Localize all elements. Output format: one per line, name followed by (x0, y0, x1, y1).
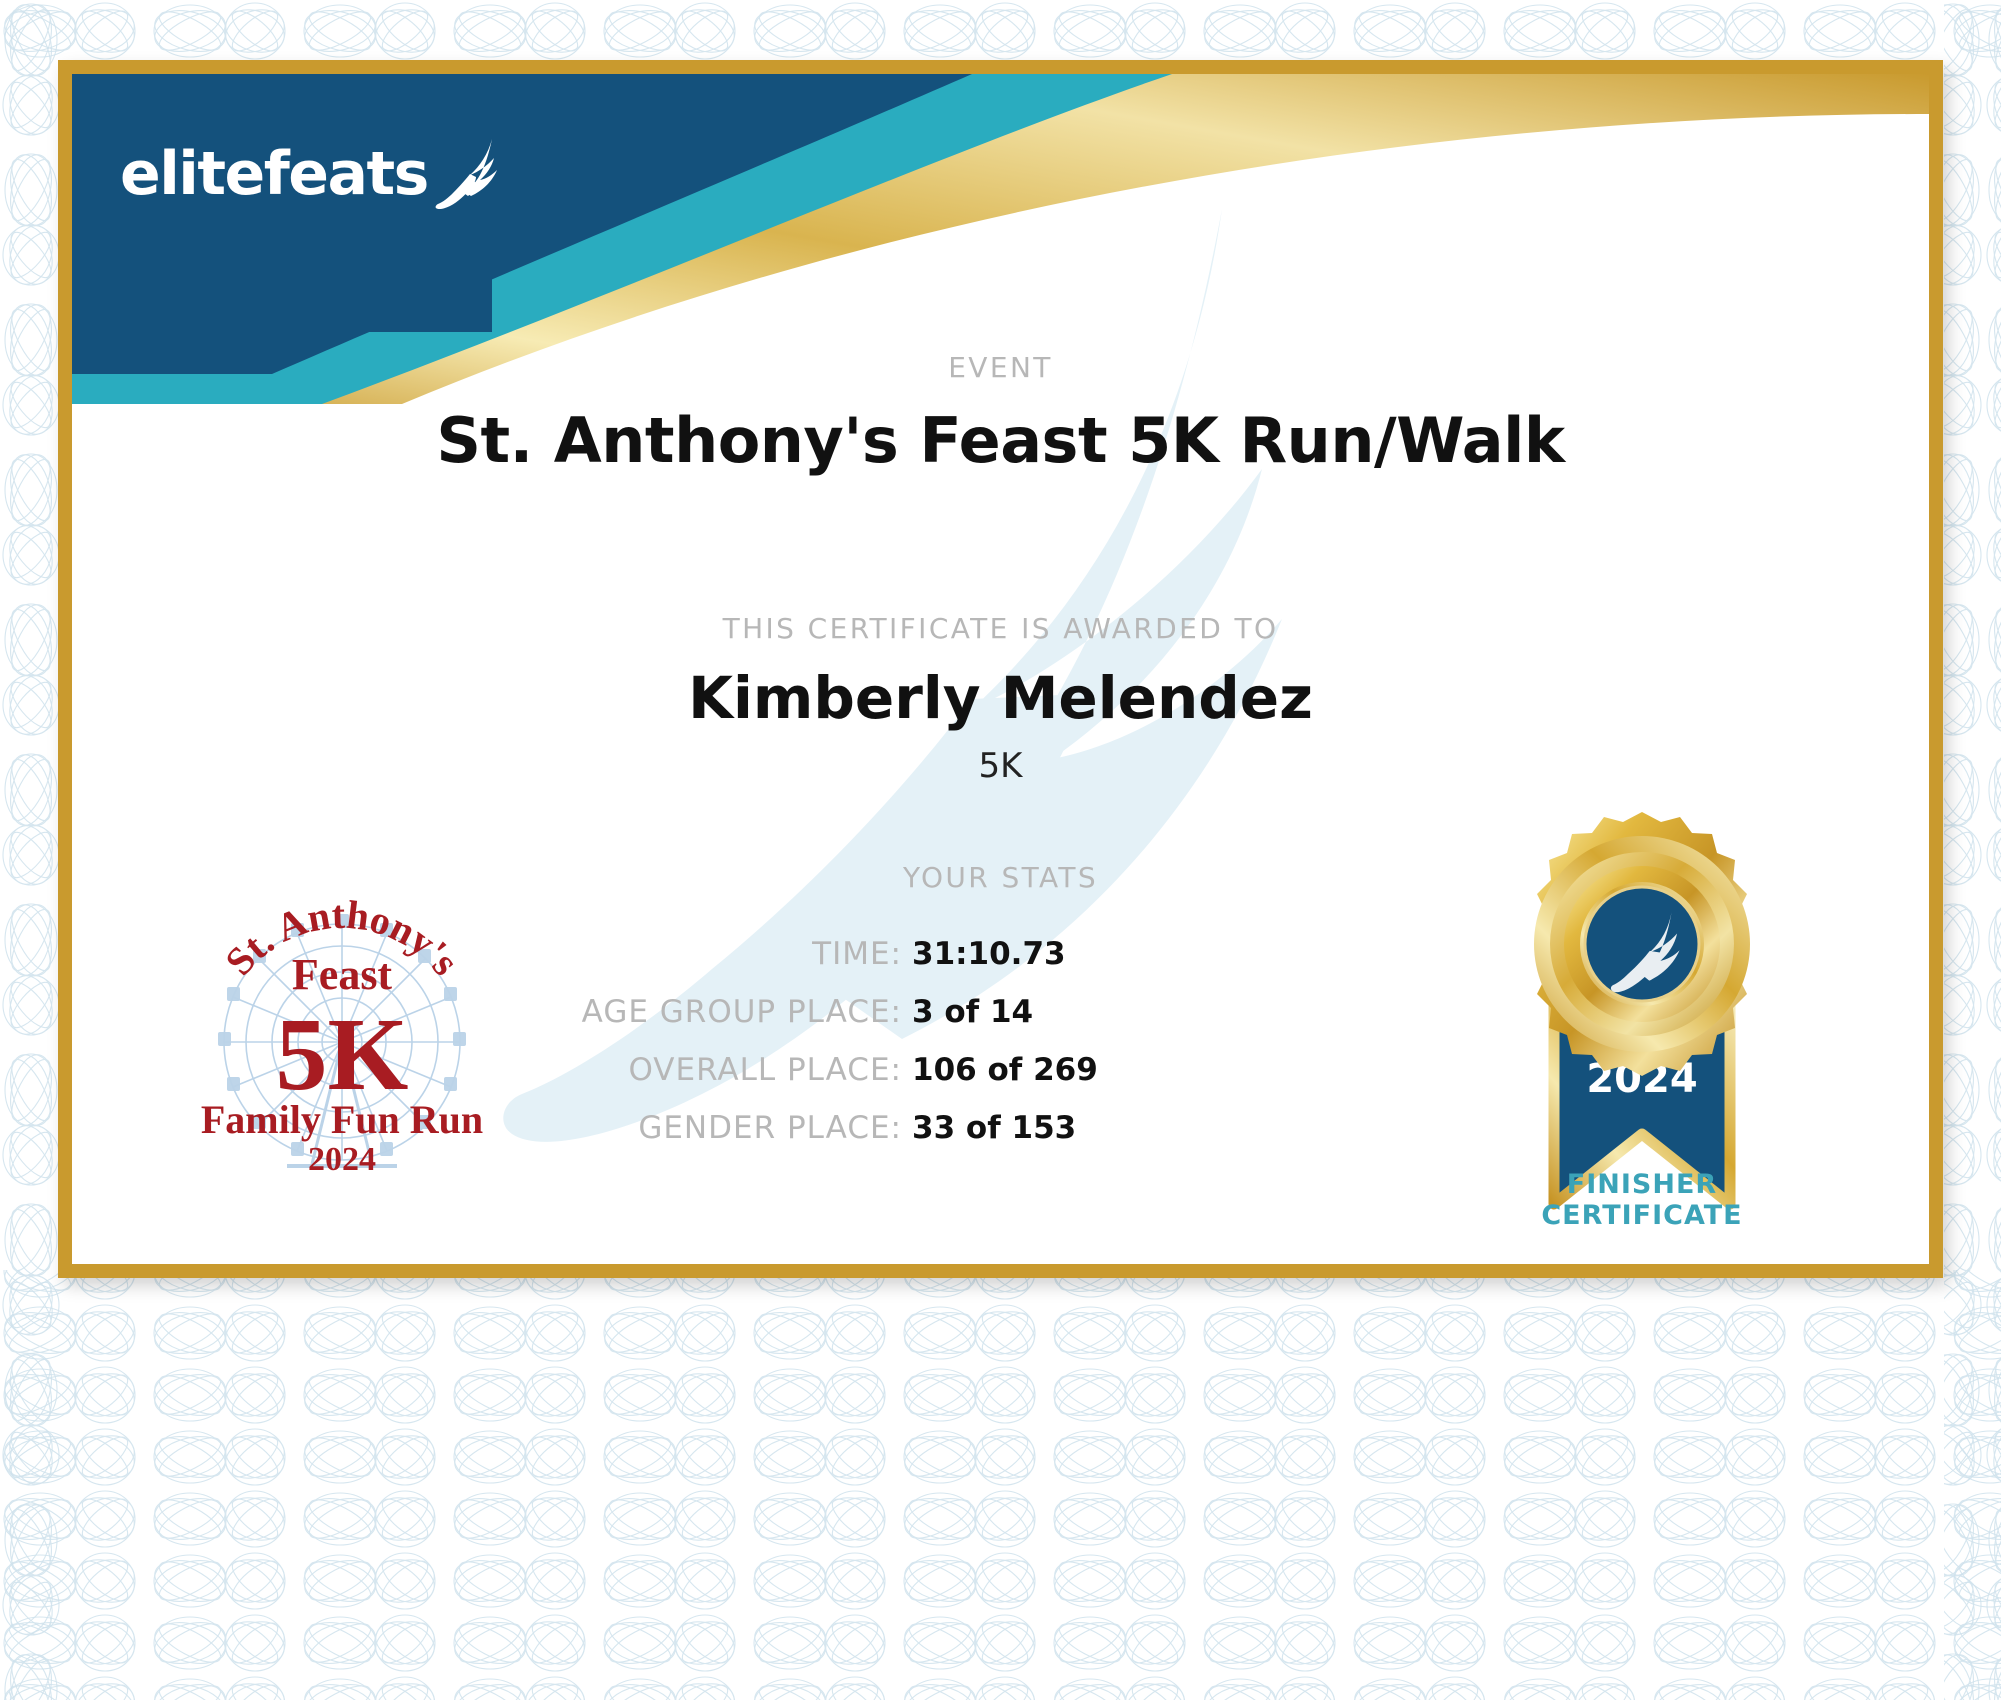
race-distance: 5K (72, 746, 1929, 786)
race-event-logo: St. Anthony's Feast 5K Family Fun Run 20… (192, 874, 492, 1174)
stat-value: 106 of 269 (912, 1052, 1098, 1088)
event-title: St. Anthony's Feast 5K Run/Walk (72, 404, 1929, 477)
awarded-to-label: THIS CERTIFICATE IS AWARDED TO (72, 612, 1929, 645)
winged-foot-icon (432, 136, 504, 212)
race-logo-line3: 5K (276, 997, 409, 1112)
medal-caption-line1: FINISHER (1472, 1169, 1812, 1200)
recipient-name: Kimberly Melendez (72, 664, 1929, 732)
brand-logo: elitefeats (120, 136, 504, 212)
event-label: EVENT (72, 351, 1929, 384)
race-logo-line5: 2024 (308, 1141, 376, 1174)
medal-caption: FINISHER CERTIFICATE (1472, 1169, 1812, 1231)
stat-value: 31:10.73 (912, 936, 1066, 972)
certificate-content: EVENT St. Anthony's Feast 5K Run/Walk TH… (72, 74, 1929, 1264)
brand-name: elitefeats (120, 139, 428, 209)
stat-value: 33 of 153 (912, 1110, 1076, 1146)
medal-caption-line2: CERTIFICATE (1472, 1200, 1812, 1231)
race-logo-line2: Feast (292, 950, 393, 999)
stat-value: 3 of 14 (912, 994, 1033, 1030)
certificate-card: elitefeats EVENT St. Anthony's Feast 5K … (58, 60, 1943, 1278)
race-logo-line4: Family Fun Run (201, 1097, 483, 1142)
